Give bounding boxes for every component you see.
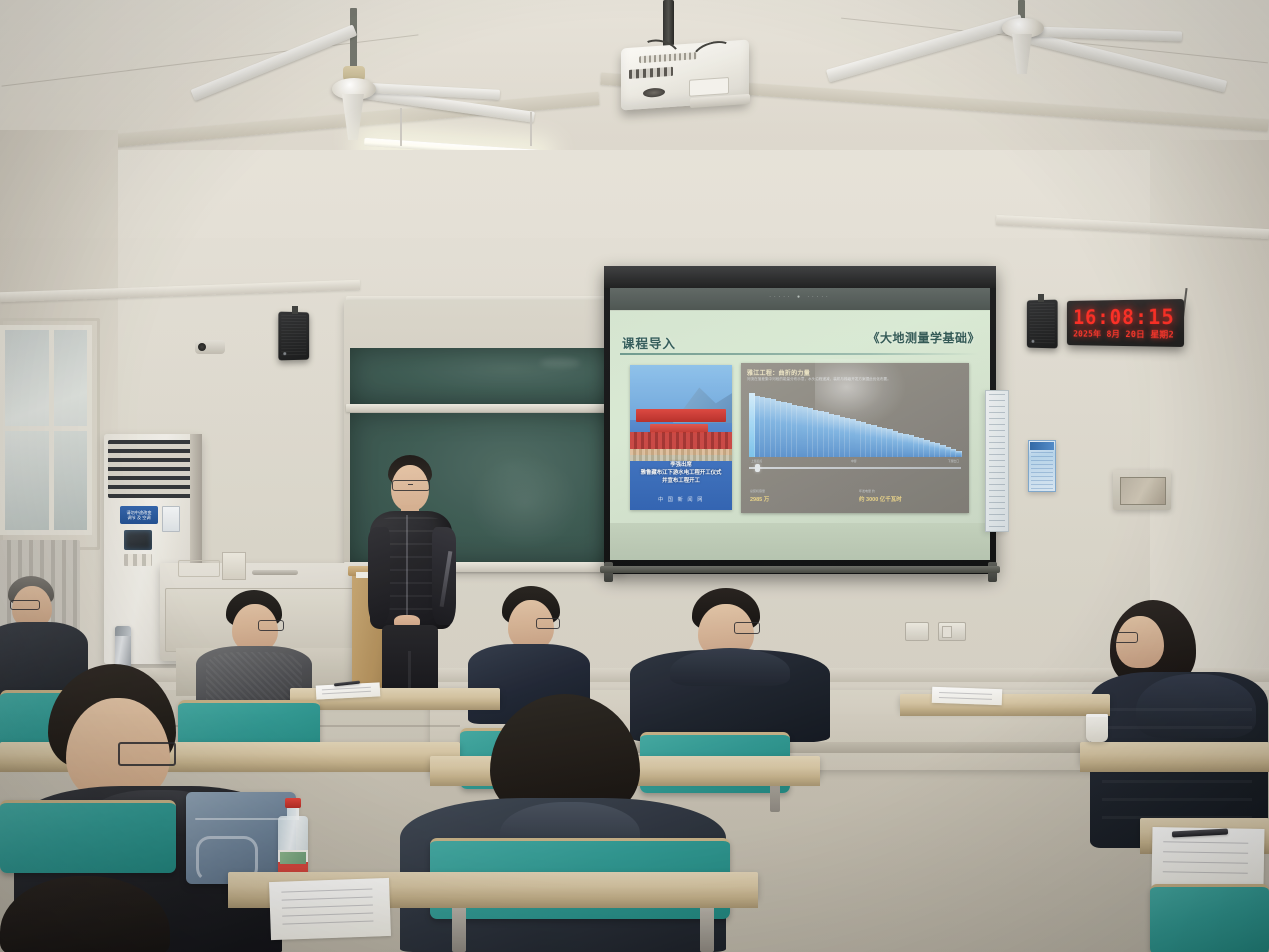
chair-back-front-left[interactable] — [0, 800, 176, 873]
chair-frame-front-center-2 — [700, 906, 714, 952]
wall-speaker-right — [1027, 300, 1058, 349]
window-left — [0, 325, 92, 535]
light-stem-4 — [530, 112, 532, 146]
ac-label: 请勿中途改变 调节 及 空调 — [120, 506, 158, 524]
ac-buttons[interactable] — [124, 554, 152, 566]
chart-tick-2: 下游出口 — [948, 459, 959, 463]
presenter — [368, 455, 454, 695]
ac-display-panel[interactable] — [124, 530, 152, 550]
blackboard-glare — [540, 358, 580, 368]
slide-bottom-margin — [610, 523, 990, 560]
chart-tick-0: 上游起点 — [751, 459, 762, 463]
chart-plot-area — [749, 393, 961, 457]
news-caption: 李强出席 雅鲁藏布江下游水电工程开工仪式 并宣布工程开工 — [633, 461, 729, 486]
blackboard-divider-ledge — [346, 404, 622, 412]
glasses-icon — [392, 480, 430, 491]
projection-screen-casing — [604, 266, 996, 288]
clock-date: 2025年 8月 20日 星期2 — [1073, 328, 1174, 341]
blackboard-upper-panel — [350, 348, 618, 406]
slide-course-name: 《大地测量学基础》 — [867, 329, 980, 346]
audience-person-right — [1090, 600, 1269, 850]
led-wall-clock: 16:08:15 2025年 8月 20日 星期2 — [1067, 299, 1184, 347]
chart-title: 雅江工程：曲折的力量 — [747, 368, 810, 377]
slide-title-rule — [620, 353, 978, 355]
projection-screen[interactable]: ····· ● ····· 课程导入 《大地测量学基础》 李强出席 雅鲁藏布江下… — [610, 288, 990, 560]
chart-stat-value-0: 2985 万 — [750, 495, 769, 503]
student-desk-row2-right-edge — [1080, 762, 1269, 772]
light-stem-3 — [400, 108, 402, 146]
handout-row1-right — [932, 687, 1003, 705]
chart-stat-label-1: 年发电量 约 — [859, 489, 875, 493]
handout-bottom-right — [1151, 827, 1264, 889]
chart-timeline-slider[interactable] — [749, 467, 961, 469]
chart-slider-knob[interactable] — [755, 464, 760, 472]
audience-person-bottomleft — [0, 876, 180, 952]
news-logo: 中 国 新 闻 网 — [630, 496, 732, 503]
desk-tray — [178, 560, 220, 577]
student-desk-row1-right-edge — [900, 708, 1110, 716]
chart-stat-value-1: 约 3000 亿千瓦时 — [859, 495, 902, 503]
news-caption-line-2: 雅鲁藏布江下游水电工程开工仪式 — [633, 469, 729, 477]
ceiling-fan-left — [250, 8, 540, 138]
information-poster — [1028, 440, 1056, 492]
blackboard-smudge — [470, 455, 580, 550]
mug-right — [1086, 714, 1108, 742]
classroom-scene: ····· ● ····· 课程导入 《大地测量学基础》 李强出席 雅鲁藏布江下… — [0, 0, 1269, 952]
wall-speaker-left — [278, 312, 309, 361]
ac-vent-grille — [108, 440, 192, 498]
chart-stat-label-0: 总装机容量 — [750, 489, 765, 493]
ac-spec-sticker — [162, 506, 180, 532]
chart-bar — [956, 451, 961, 457]
screen-lower-brace — [600, 566, 1000, 573]
projected-slide: 课程导入 《大地测量学基础》 李强出席 雅鲁藏布江下游水电工程开工仪式 并宣布工… — [610, 311, 990, 523]
teacher-desk-handle[interactable] — [252, 570, 298, 575]
notice-board — [985, 390, 1009, 532]
light-switch[interactable] — [938, 622, 966, 641]
speaker-bracket-right — [1038, 294, 1044, 302]
presenter-arm-left — [368, 527, 390, 623]
handout-bottom-left — [269, 878, 391, 940]
news-caption-line-1: 李强出席 — [633, 461, 729, 469]
chart-subtitle: 河流在落差集中河段的能量分布示意，水头沿程递减，装机与梯级开发方案据此优化布置。 — [747, 377, 897, 382]
ceiling-fan-right — [900, 0, 1230, 110]
chair-back-front-right[interactable] — [1150, 884, 1269, 952]
slide-topbar-text: ····· ● ····· — [769, 294, 830, 300]
news-photo-card: 李强出席 雅鲁藏布江下游水电工程开工仪式 并宣布工程开工 中 国 新 闻 网 — [630, 365, 732, 510]
speaker-bracket-left — [292, 306, 298, 314]
clock-time: 16:08:15 — [1073, 304, 1175, 329]
student-desk-row2-right — [1080, 742, 1269, 764]
desk-notice-card — [222, 552, 246, 580]
security-camera-icon — [195, 340, 225, 354]
ac-label-line-2: 调节 及 空调 — [127, 515, 150, 520]
slide-title: 课程导入 — [622, 333, 676, 352]
power-outlet — [905, 622, 929, 641]
slide-topbar: ····· ● ····· — [610, 288, 990, 310]
chart-tick-1: 中游 — [851, 459, 857, 463]
framed-wall-notice — [1113, 470, 1171, 510]
chair-frame-front-center — [452, 906, 466, 952]
news-caption-line-3: 并宣布工程开工 — [633, 477, 729, 485]
slide-chart-panel: 雅江工程：曲折的力量 河流在落差集中河段的能量分布示意，水头沿程递减，装机与梯级… — [741, 363, 969, 513]
